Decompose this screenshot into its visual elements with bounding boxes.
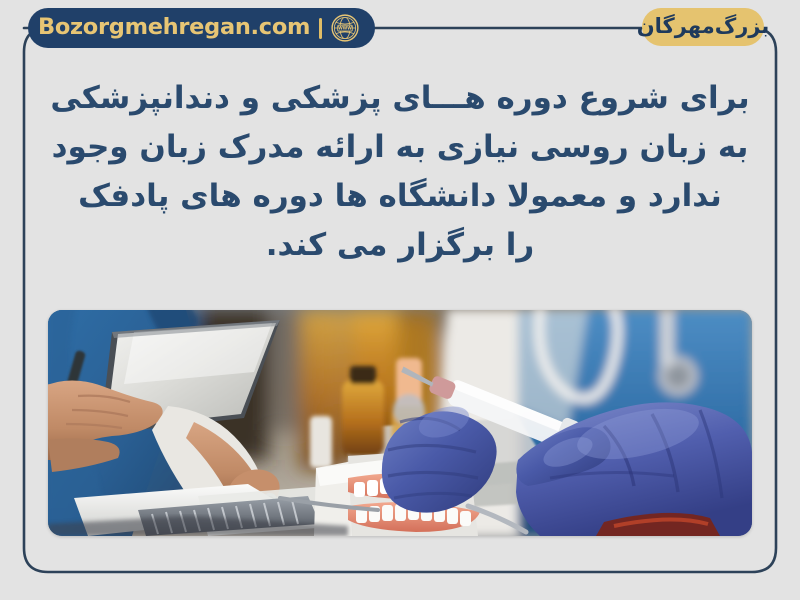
headline-text-block: برای شروع دوره هـــای پزشکی و دندانپزشکی… bbox=[26, 74, 774, 270]
headline-line-2: به زبان روسی نیازی به ارائه مدرک زبان وج… bbox=[26, 123, 774, 172]
site-name-text: بزرگ‌مهرگان bbox=[637, 16, 770, 39]
infographic-card: WWW Bozorgmehregan.com بزرگ‌مهرگان برای … bbox=[0, 0, 800, 600]
dentistry-photo bbox=[48, 310, 752, 536]
globe-icon-www-label: WWW bbox=[338, 26, 352, 31]
headline-line-4: را برگزار می کند. bbox=[26, 221, 774, 270]
brand-divider bbox=[319, 18, 322, 39]
globe-www-icon: WWW bbox=[331, 14, 359, 42]
headline-line-3: ندارد و معمولا دانشگاه ها دوره های پادفک bbox=[26, 172, 774, 221]
site-name-pill[interactable]: بزرگ‌مهرگان bbox=[642, 8, 764, 46]
header-bar: WWW Bozorgmehregan.com بزرگ‌مهرگان bbox=[0, 0, 800, 56]
brand-pill[interactable]: WWW Bozorgmehregan.com bbox=[28, 8, 375, 48]
brand-name-text: Bozorgmehregan.com bbox=[38, 16, 310, 40]
headline-line-1: برای شروع دوره هـــای پزشکی و دندانپزشکی bbox=[26, 74, 774, 123]
